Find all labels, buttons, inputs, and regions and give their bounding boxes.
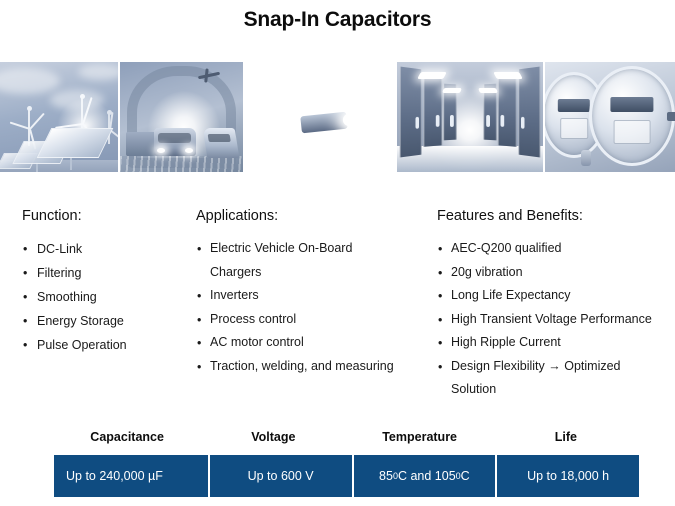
truck-icon	[154, 128, 196, 156]
ceiling-light	[417, 72, 447, 79]
bullet-icon: •	[23, 237, 27, 261]
server-rack	[423, 75, 442, 147]
headlight-glow	[157, 148, 165, 153]
column-header-voltage: Voltage	[200, 430, 346, 455]
list-item: • Filtering	[22, 261, 192, 285]
turbine-blade	[29, 113, 45, 130]
page-title: Snap-In Capacitors	[0, 8, 675, 32]
utility-meter-image	[545, 62, 675, 172]
list-item-label: Inverters	[210, 288, 259, 302]
meter-nameplate	[560, 118, 588, 139]
bullet-icon: •	[438, 261, 442, 285]
rack-handle	[501, 115, 505, 127]
bullet-icon: •	[197, 331, 201, 355]
transportation-image	[120, 62, 245, 172]
list-item-label: Design Flexibility → Optimized	[451, 359, 621, 373]
table-row: Up to 240,000 µF Up to 600 V 850C and 10…	[54, 455, 639, 497]
bullet-icon: •	[438, 284, 442, 308]
list-item-label: DC-Link	[37, 242, 82, 256]
server-rack	[498, 75, 517, 147]
rack-handle	[486, 115, 490, 127]
server-rack	[518, 67, 540, 158]
list-item-label-continued: Solution	[451, 378, 669, 402]
train-icon	[203, 128, 240, 158]
list-item-label: Smoothing	[37, 290, 97, 304]
column-heading-function: Function:	[22, 208, 192, 224]
temperature-value-1: 85	[379, 469, 393, 483]
bullet-icon: •	[197, 355, 201, 379]
column-header-temperature: Temperature	[347, 430, 493, 455]
table-header-row: Capacitance Voltage Temperature Life	[54, 430, 639, 455]
solar-panel-leg	[70, 156, 72, 170]
specification-table: Capacitance Voltage Temperature Life Up …	[54, 430, 639, 497]
data-center-image	[397, 62, 545, 172]
hero-image-band	[0, 62, 675, 172]
list-item-label: Pulse Operation	[37, 338, 127, 352]
bullet-icon: •	[23, 285, 27, 309]
list-item: • Energy Storage	[22, 309, 192, 333]
turbine-hub	[27, 106, 32, 111]
list-item: • DC-Link	[22, 237, 192, 261]
column-header-life: Life	[493, 430, 639, 455]
list-item-label: Long Life Expectancy	[451, 288, 571, 302]
list-item: • Design Flexibility → Optimized Solutio…	[437, 355, 669, 402]
meter-nameplate	[614, 120, 651, 144]
cell-voltage: Up to 600 V	[210, 455, 354, 497]
bullet-icon: •	[438, 355, 442, 379]
bullet-icon: •	[197, 308, 201, 332]
list-item-label: AEC-Q200 qualified	[451, 241, 561, 255]
cell-capacitance: Up to 240,000 µF	[54, 455, 210, 497]
bullet-icon: •	[438, 237, 442, 261]
bullet-icon: •	[23, 261, 27, 285]
list-item-label: High Transient Voltage Performance	[451, 312, 652, 326]
list-item: • Long Life Expectancy	[437, 284, 669, 308]
list-item: • Pulse Operation	[22, 333, 192, 357]
list-item: • Traction, welding, and measuring	[196, 355, 428, 379]
bullet-icon: •	[23, 309, 27, 333]
meter-dial	[610, 97, 653, 112]
list-item: • Process control	[196, 308, 428, 332]
list-item-label: High Ripple Current	[451, 335, 561, 349]
ceiling-light	[493, 72, 523, 79]
bullet-icon: •	[197, 284, 201, 308]
applications-list: • Electric Vehicle On-Board Chargers • I…	[196, 237, 428, 378]
renewable-energy-image	[0, 62, 120, 172]
headlight-glow	[185, 148, 193, 153]
list-item-label: Energy Storage	[37, 314, 124, 328]
meter-terminal	[667, 112, 675, 121]
turbine-blade	[82, 97, 93, 124]
list-item-label-continued: Chargers	[210, 261, 428, 285]
cell-temperature: 850C and 1050C	[354, 455, 498, 497]
welding-image	[245, 62, 397, 172]
function-list: • DC-Link • Filtering • Smoothing • Ener…	[22, 237, 192, 357]
list-item: • High Transient Voltage Performance	[437, 308, 669, 332]
meter-dial	[558, 99, 590, 112]
rack-handle	[450, 115, 454, 127]
list-item: • 20g vibration	[437, 261, 669, 285]
column-applications: Applications: • Electric Vehicle On-Boar…	[196, 208, 428, 378]
cloud-shape	[0, 68, 60, 94]
list-item: • Electric Vehicle On-Board Chargers	[196, 237, 428, 284]
server-rack	[400, 67, 422, 158]
bullet-icon: •	[438, 331, 442, 355]
list-item: • AEC-Q200 qualified	[437, 237, 669, 261]
list-item-label: AC motor control	[210, 335, 304, 349]
list-item-label: Filtering	[37, 266, 81, 280]
trailer-shape	[126, 132, 156, 156]
list-item-label: Electric Vehicle On-Board	[210, 241, 352, 255]
list-item-label: 20g vibration	[451, 265, 523, 279]
temperature-middle: C and 105	[398, 469, 456, 483]
railway-track	[120, 156, 243, 172]
list-item: • Inverters	[196, 284, 428, 308]
meter-latch	[581, 150, 591, 166]
list-item-label: Process control	[210, 312, 296, 326]
rack-handle	[436, 115, 440, 127]
column-features-benefits: Features and Benefits: • AEC-Q200 qualif…	[437, 208, 669, 402]
list-item: • High Ripple Current	[437, 331, 669, 355]
column-header-capacitance: Capacitance	[54, 430, 200, 455]
cell-life: Up to 18,000 h	[497, 455, 639, 497]
turbine-hub	[80, 94, 85, 99]
column-function: Function: • DC-Link • Filtering • Smooth…	[22, 208, 192, 357]
list-item-label: Traction, welding, and measuring	[210, 359, 394, 373]
bullet-icon: •	[197, 237, 201, 261]
solar-panel-icon	[37, 128, 114, 158]
list-item: • AC motor control	[196, 331, 428, 355]
rack-handle	[521, 117, 525, 129]
bullet-icon: •	[23, 333, 27, 357]
ceiling-light	[442, 88, 462, 93]
ceiling-light	[478, 88, 498, 93]
turbine-hub	[107, 110, 112, 115]
electric-meter-icon	[589, 66, 675, 166]
column-heading-applications: Applications:	[196, 208, 428, 224]
bullet-icon: •	[438, 308, 442, 332]
temperature-suffix: C	[461, 469, 470, 483]
list-item: • Smoothing	[22, 285, 192, 309]
features-list: • AEC-Q200 qualified • 20g vibration • L…	[437, 237, 669, 402]
rack-handle	[416, 117, 420, 129]
column-heading-features-benefits: Features and Benefits:	[437, 208, 669, 224]
cloud-shape	[78, 64, 120, 80]
